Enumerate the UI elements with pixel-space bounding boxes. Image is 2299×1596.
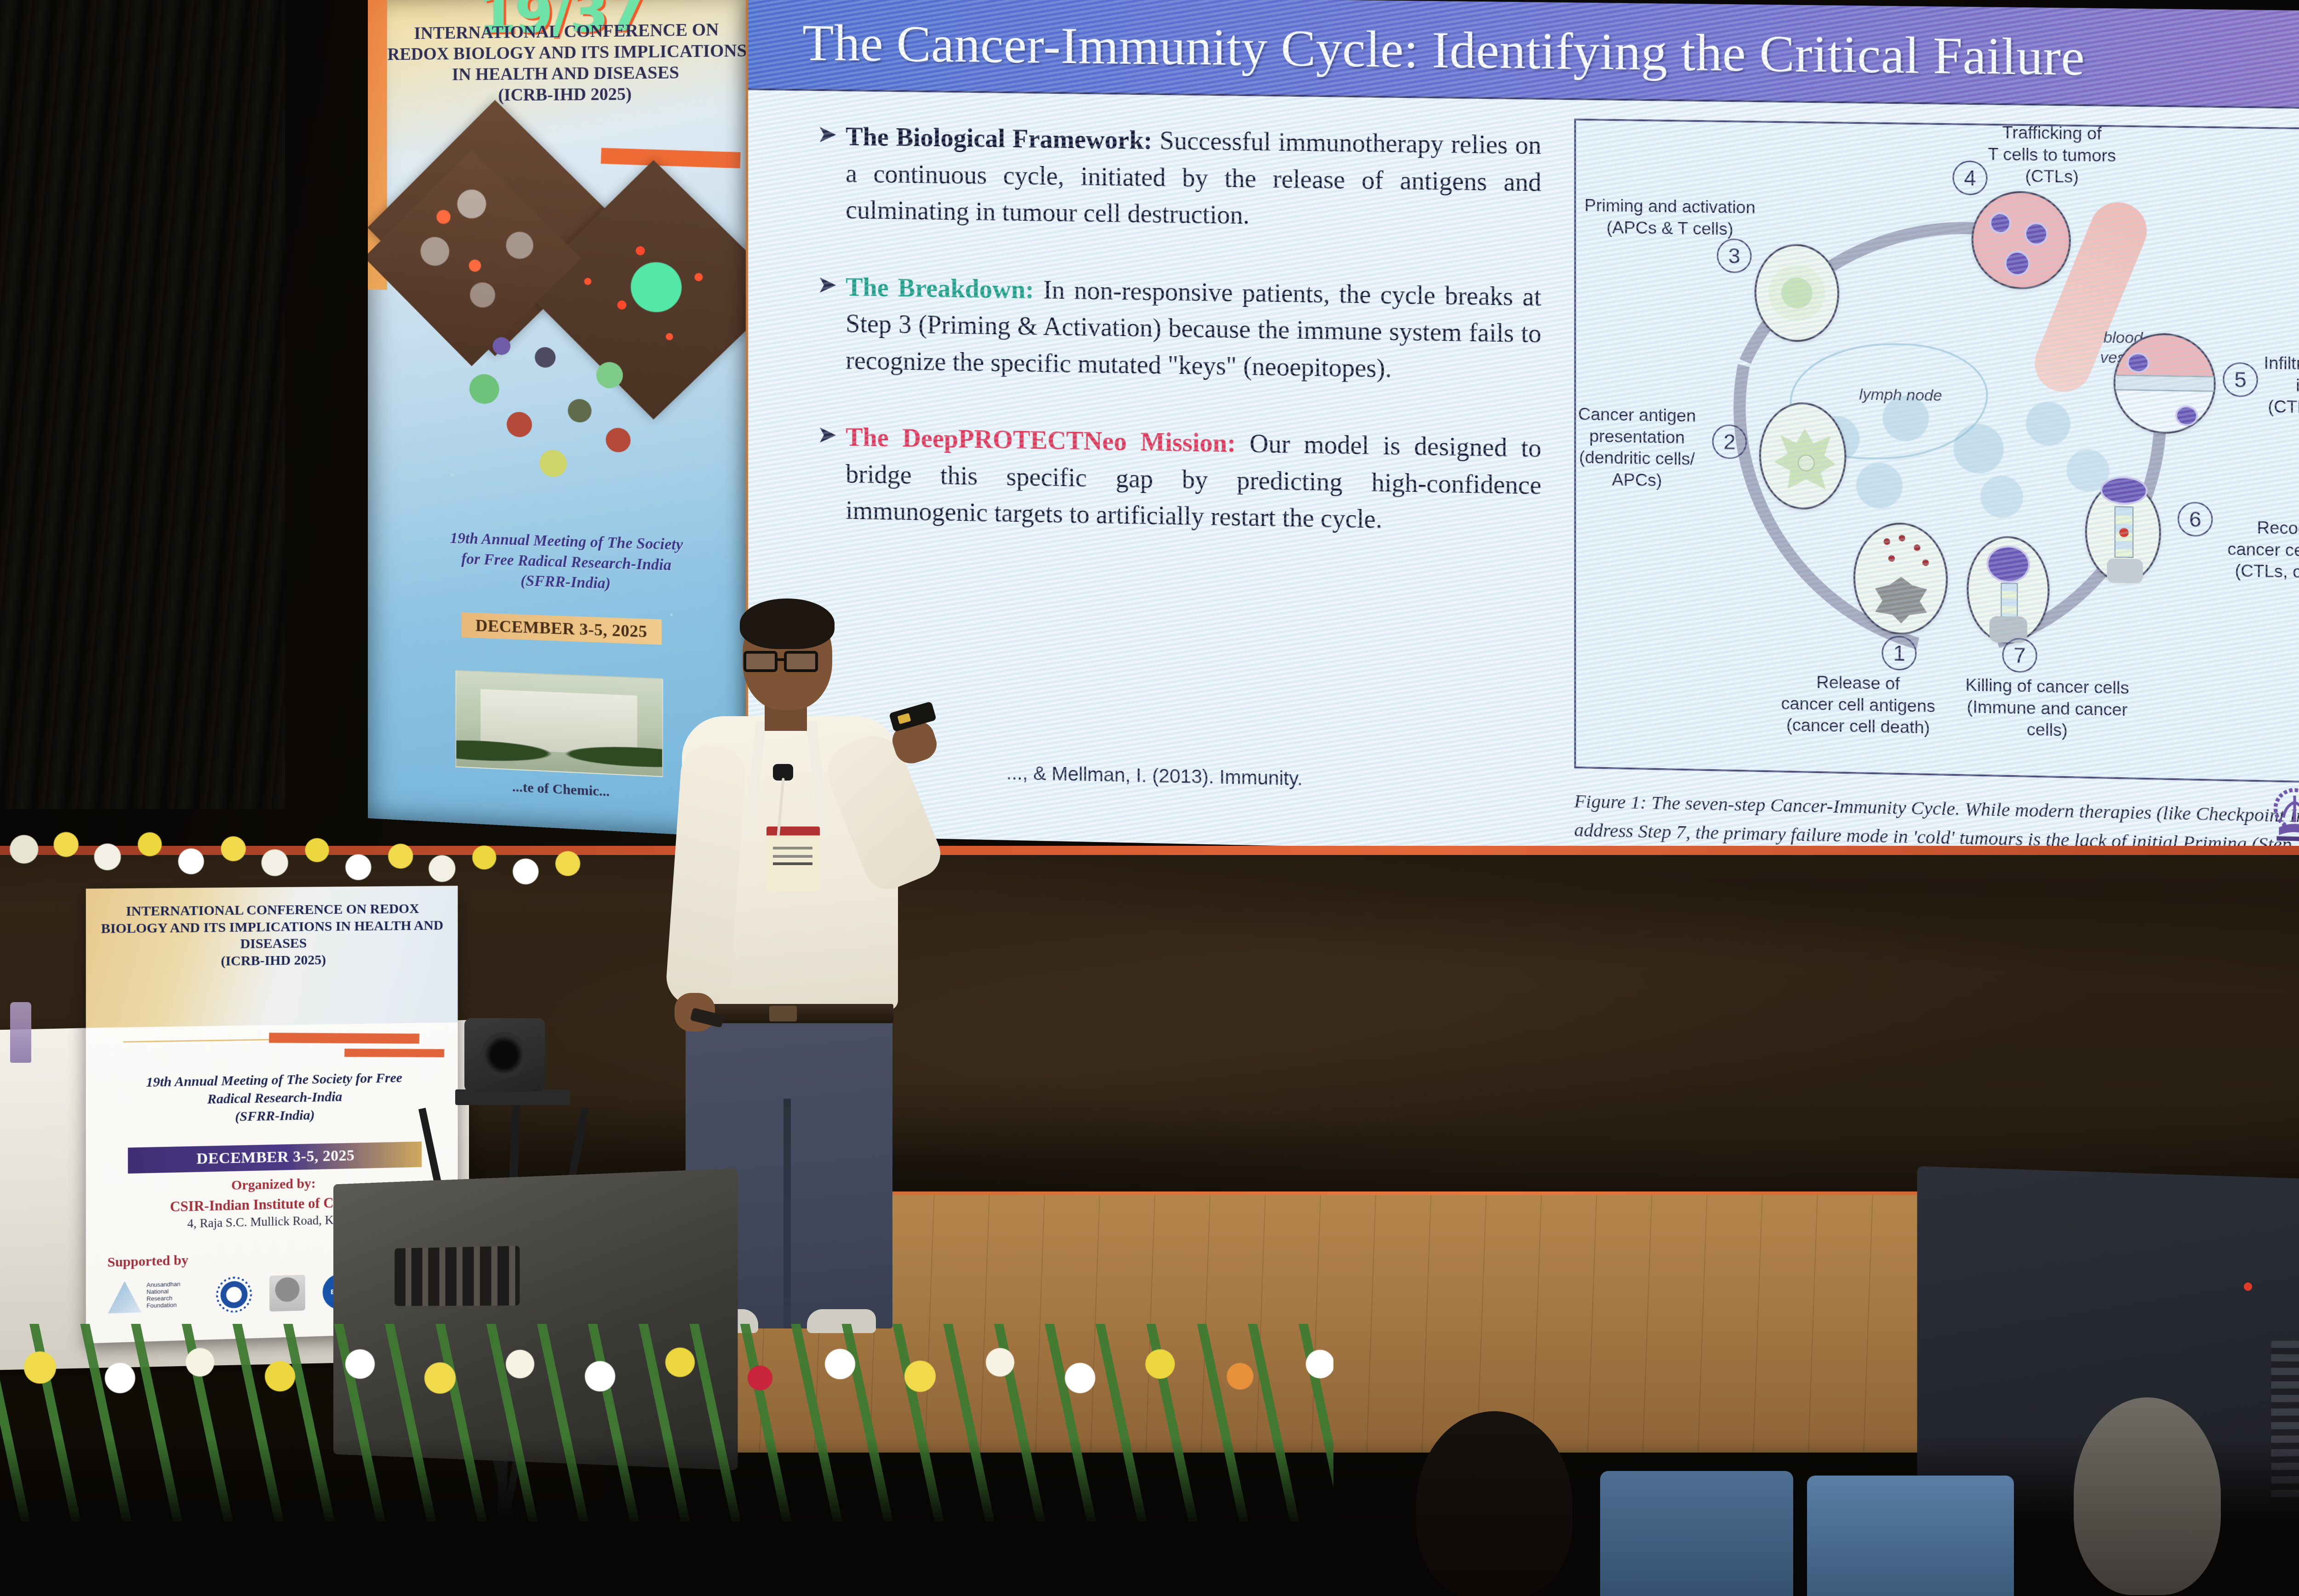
banner-date-badge: DECEMBER 3-5, 2025 [462, 612, 662, 645]
cycle-step-number-3: 3 [1717, 239, 1752, 274]
poster-accent-bar-2 [344, 1049, 444, 1057]
presenter-glasses-right-lens [784, 651, 818, 672]
presenter-glasses-bridge [778, 658, 785, 661]
recording-indicator-icon [2244, 1282, 2252, 1291]
cycle-label-7: Killing of cancer cells(Immune and cance… [1948, 674, 2147, 743]
cycle-label-4: Trafficking ofT cells to tumors(CTLs) [1972, 121, 2133, 188]
iit-crest-icon [2266, 783, 2299, 845]
cycle-node-1 [1853, 522, 1948, 635]
banner-artwork [395, 132, 721, 539]
audience-head [1416, 1411, 1573, 1596]
audience-head [2074, 1397, 2221, 1595]
bullet-arrow-icon: ➤ [817, 419, 846, 530]
cycle-node-3 [1755, 244, 1839, 342]
camera-mount [455, 1089, 570, 1105]
presenter-glasses-left-lens [743, 651, 778, 672]
floral-garland-stage-front [0, 1324, 1333, 1411]
cycle-step-number-2: 2 [1712, 424, 1747, 459]
cycle-node-7 [1967, 536, 2049, 644]
cycle-node-5 [2114, 332, 2216, 434]
banner-molecule-image [451, 318, 658, 518]
water-bottle [10, 1002, 31, 1063]
csir-gear-logo [216, 1276, 252, 1313]
banner-artwork-bar [601, 148, 741, 169]
conference-scene: 19/37 INTERNATIONAL CONFERENCE ON REDOX … [0, 0, 2299, 1596]
presenter-hair [740, 598, 835, 649]
cycle-label-5: Infiltration of T cellsinto tumors(CTLs,… [2256, 352, 2299, 442]
cancer-immunity-cycle-figure: lymph node bloodvessel tumor 3 Priming a… [1574, 119, 2299, 785]
cycle-label-1: Release ofcancer cell antigens(cancer ce… [1764, 671, 1952, 739]
cycle-step-number-6: 6 [2178, 502, 2213, 537]
bullet-text: The Biological Framework: Successful imm… [846, 119, 1541, 238]
poster-supported-by-label: Supported by [108, 1253, 189, 1271]
poster-subtitle: 19th Annual Meeting of The Society for F… [103, 1068, 444, 1129]
video-camera [464, 1018, 545, 1092]
bullet-arrow-icon: ➤ [817, 119, 846, 229]
poster-accent-bar-1 [269, 1033, 420, 1044]
govt-india-emblem-logo [269, 1275, 305, 1311]
slide-citation: ..., & Mellman, I. (2013). Immunity. [1006, 762, 1303, 790]
bullet-lead: The DeepPROTECTNeo Mission: [846, 423, 1236, 458]
cycle-label-3: Priming and activation(APCs & T cells) [1581, 195, 1759, 240]
bullet-lead: The Biological Framework: [846, 123, 1152, 155]
cycle-node-6 [2085, 481, 2161, 583]
audience-chair [1600, 1471, 1793, 1596]
annotation-lymph-node: lymph node [1839, 384, 1962, 406]
bullet-arrow-icon: ➤ [817, 269, 846, 379]
banner-institute-photo [455, 670, 663, 777]
anrf-logo [107, 1279, 143, 1317]
cycle-step-number-5: 5 [2223, 362, 2258, 397]
cycle-label-6: Recognition ofcancer cells by T cells(CT… [2218, 516, 2299, 585]
cycle-step-number-7: 7 [2002, 638, 2037, 673]
bullet-item: ➤ The Breakdown: In non-responsive patie… [817, 269, 1541, 390]
slide-bullet-list: ➤ The Biological Framework: Successful i… [817, 119, 1541, 582]
banner-subtitle: 19th Annual Meeting of The Society for F… [395, 527, 740, 599]
bullet-item: ➤ The DeepPROTECTNeo Mission: Our model … [817, 419, 1541, 541]
poster-title: INTERNATIONAL CONFERENCE ON REDOX BIOLOG… [98, 901, 446, 971]
poster-date: DECEMBER 3-5, 2025 [196, 1147, 355, 1168]
bullet-text: The Breakdown: In non-responsive patient… [846, 269, 1541, 390]
stage-curtain [0, 0, 285, 809]
bullet-item: ➤ The Biological Framework: Successful i… [817, 119, 1541, 238]
cycle-step-number-1: 1 [1882, 636, 1916, 671]
bullet-text: The DeepPROTECTNeo Mission: Our model is… [846, 420, 1541, 541]
projection-screen: The Cancer-Immunity Cycle: Identifying t… [746, 0, 2299, 870]
bullet-lead: The Breakdown: [846, 273, 1034, 304]
audience-chair [1807, 1476, 2014, 1596]
banner-title: INTERNATIONAL CONFERENCE ON REDOX BIOLOG… [386, 19, 748, 107]
anrf-logo-text: Anusandhan National Research Foundation [147, 1281, 191, 1310]
poster-date-band: DECEMBER 3-5, 2025 [128, 1141, 422, 1174]
cycle-label-2: Cancer antigenpresentation(dendritic cel… [1574, 403, 1717, 492]
presenter-badge [766, 826, 820, 891]
cycle-node-4 [1972, 190, 2071, 290]
cycle-node-2 [1759, 402, 1847, 510]
